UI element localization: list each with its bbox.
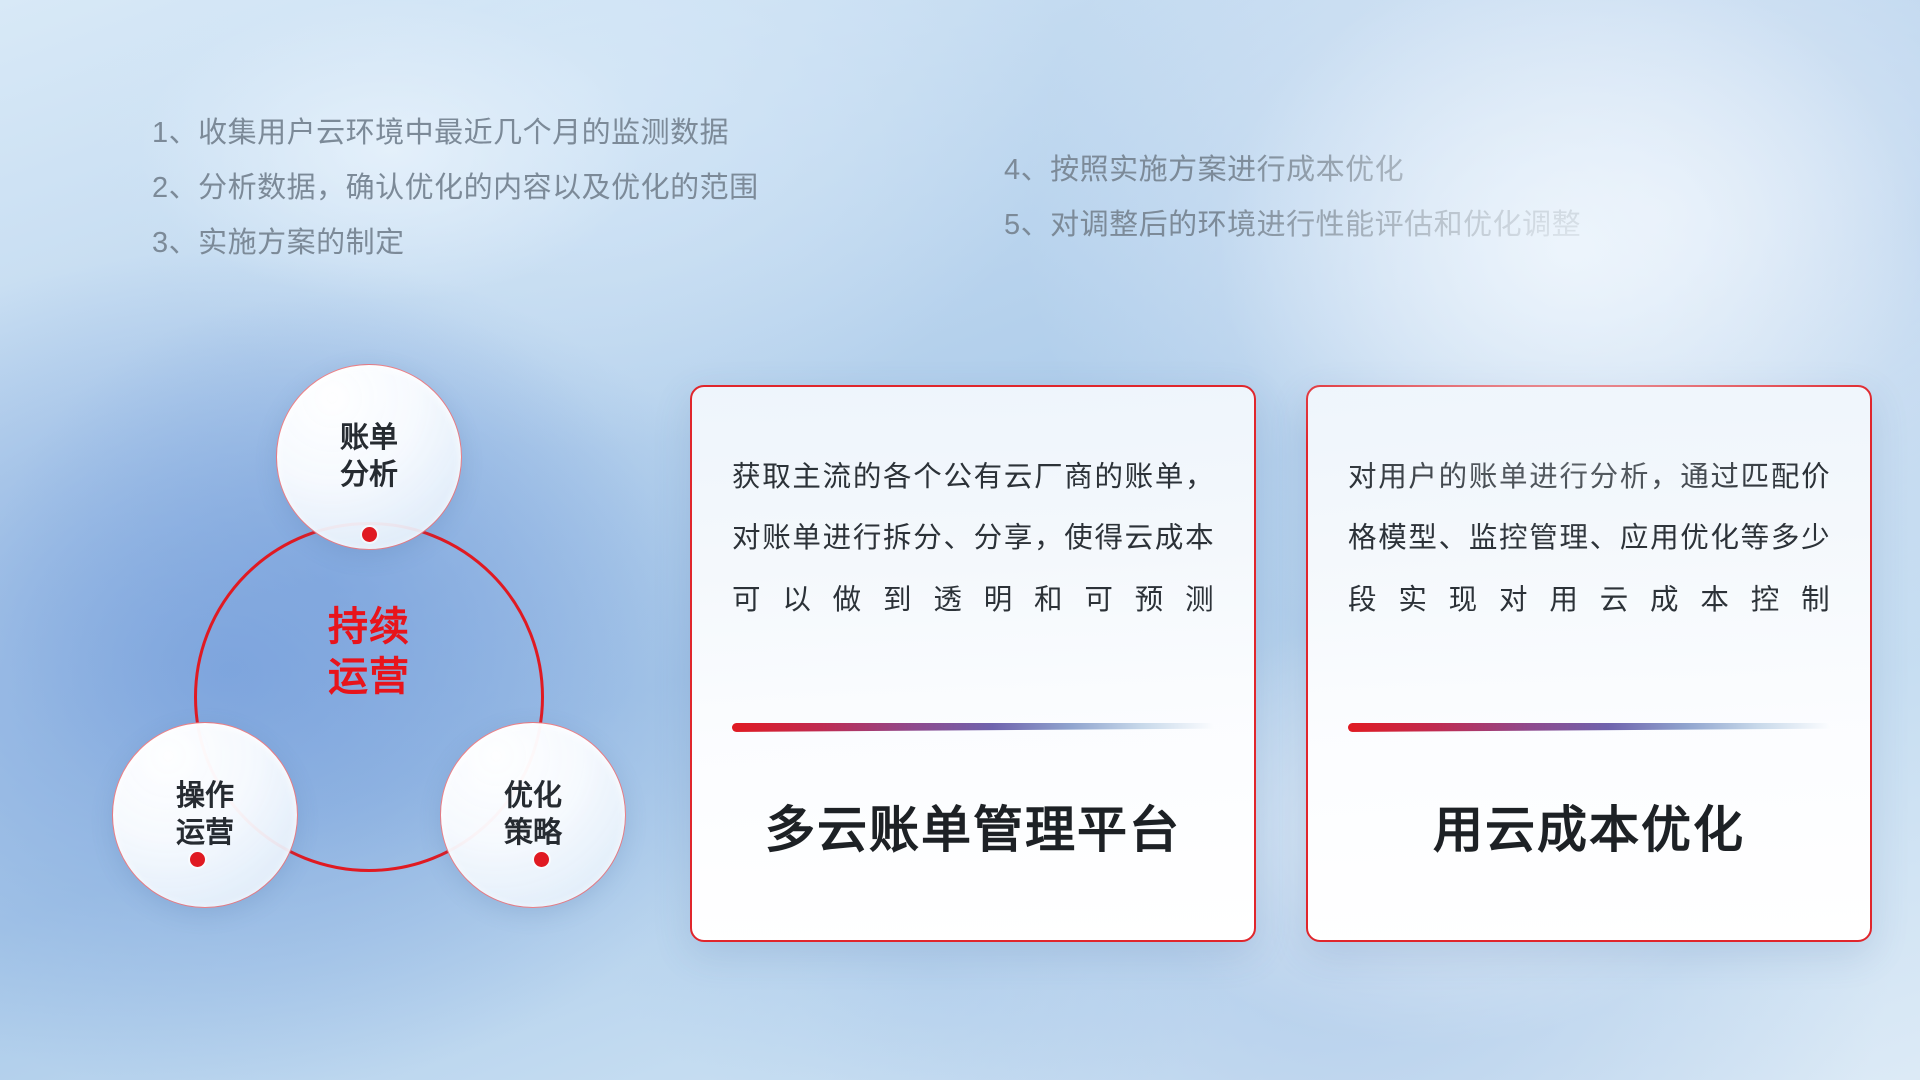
center-label-line-2: 运营 [274, 652, 464, 702]
step-item-3: 3、实施方案的制定 [152, 229, 759, 258]
diagram-bubble-operations[interactable]: 操作 运营 [112, 722, 298, 908]
bubble-top-line-2: 分析 [340, 457, 398, 494]
circle-diagram: 持续 运营 账单 分析 操作 运营 优化 策略 [100, 352, 660, 952]
feature-card-cost-optimization[interactable]: 对用户的账单进行分析，通过匹配价格模型、监控管理、应用优化等多少段实现对用云成本… [1306, 385, 1872, 942]
card-2-divider [1348, 723, 1830, 732]
bubble-br-line-1: 优化 [504, 778, 562, 815]
bubble-br-line-2: 策略 [504, 815, 562, 852]
ring-node-dot-bottom-left [190, 852, 205, 867]
card-2-title: 用云成本优化 [1348, 790, 1830, 862]
section-divider [100, 318, 1860, 325]
steps-list-left: 1、收集用户云环境中最近几个月的监测数据 2、分析数据，确认优化的内容以及优化的… [152, 119, 759, 258]
ring-node-dot-bottom-right [534, 852, 549, 867]
bubble-bl-line-1: 操作 [176, 778, 234, 815]
card-1-divider [732, 723, 1214, 732]
card-1-body: 获取主流的各个公有云厂商的账单，对账单进行拆分、分享，使得云成本可以做到透明和可… [732, 447, 1214, 717]
bubble-bl-line-2: 运营 [176, 815, 234, 852]
diagram-bubble-bill-analysis[interactable]: 账单 分析 [276, 364, 462, 550]
bubble-top-line-1: 账单 [340, 420, 398, 457]
card-1-title: 多云账单管理平台 [732, 790, 1214, 862]
slide-canvas: 1、收集用户云环境中最近几个月的监测数据 2、分析数据，确认优化的内容以及优化的… [0, 0, 1920, 1080]
step-item-1: 1、收集用户云环境中最近几个月的监测数据 [152, 119, 759, 148]
step-item-2: 2、分析数据，确认优化的内容以及优化的范围 [152, 174, 759, 203]
ring-node-dot-top [362, 527, 377, 542]
steps-list-right: 4、按照实施方案进行成本优化 5、对调整后的环境进行性能评估和优化调整 [1004, 156, 1581, 240]
step-item-5: 5、对调整后的环境进行性能评估和优化调整 [1004, 211, 1581, 240]
card-2-body: 对用户的账单进行分析，通过匹配价格模型、监控管理、应用优化等多少段实现对用云成本… [1348, 447, 1830, 717]
step-item-4: 4、按照实施方案进行成本优化 [1004, 156, 1581, 185]
diagram-center-label: 持续 运营 [274, 602, 464, 702]
diagram-bubble-optimization-strategy[interactable]: 优化 策略 [440, 722, 626, 908]
feature-card-multicloud-billing[interactable]: 获取主流的各个公有云厂商的账单，对账单进行拆分、分享，使得云成本可以做到透明和可… [690, 385, 1256, 942]
center-label-line-1: 持续 [274, 602, 464, 652]
